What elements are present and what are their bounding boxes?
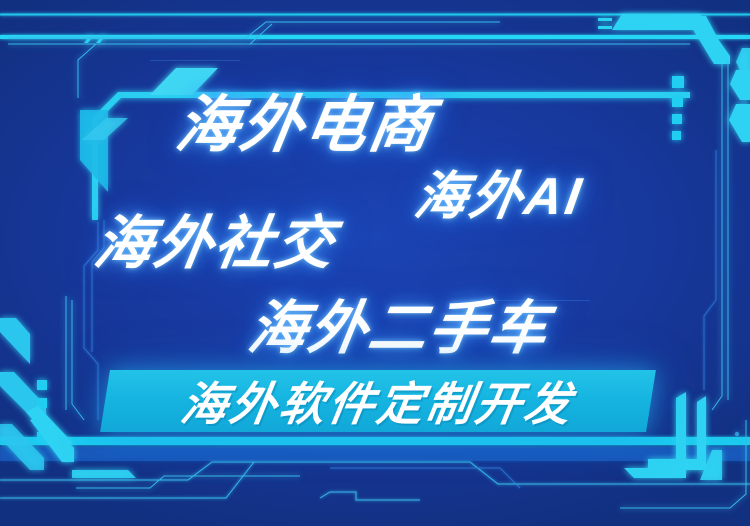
cta-banner-label: 海外软件定制开发 — [100, 370, 656, 432]
poster-canvas: 海外电商 海外AI 海外社交 海外二手车 海外软件定制开发 — [0, 0, 750, 526]
headline-group: 海外电商 海外AI 海外社交 海外二手车 海外软件定制开发 — [0, 0, 750, 526]
headline-overseas-ai: 海外AI — [410, 154, 590, 229]
headline-overseas-used-cars: 海外二手车 — [243, 281, 556, 365]
headline-overseas-ecommerce: 海外电商 — [171, 74, 441, 164]
cta-banner[interactable]: 海外软件定制开发 — [100, 370, 656, 432]
headline-overseas-social: 海外社交 — [89, 196, 342, 280]
